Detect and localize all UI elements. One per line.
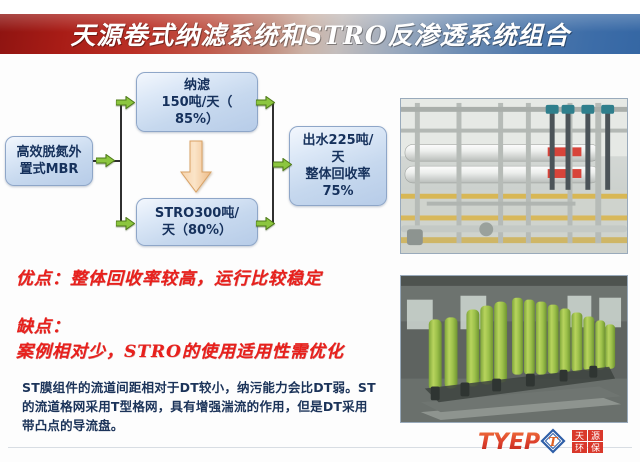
logo-wordmark: TYEP [478, 430, 540, 454]
flow-node-output-label: 出水225吨/天整体回收率75% [294, 132, 382, 200]
photo-ro-membrane-skid [400, 98, 628, 254]
connector-line [120, 102, 122, 224]
flow-node-nanofiltration-label: 纳滤150吨/天（85%） [141, 77, 253, 128]
flow-node-mbr: 高效脱氮外置式MBR [5, 136, 93, 186]
flow-node-mbr-label: 高效脱氮外置式MBR [10, 144, 88, 178]
svg-text:天: 天 [575, 432, 584, 442]
peach-down-arrow-icon [180, 140, 212, 194]
process-flowchart: 高效脱氮外置式MBR 纳滤150吨/天（85%） STRO300吨/天（80%）… [0, 58, 392, 258]
flow-node-stro: STRO300吨/天（80%） [136, 198, 258, 246]
logo-cn-characters: 天 源 环 保 [572, 430, 603, 454]
photo-green-membrane-columns [400, 275, 628, 423]
green-arrow-icon [116, 96, 135, 109]
flow-node-output: 出水225吨/天整体回收率75% [289, 126, 387, 206]
green-arrow-icon [256, 217, 275, 230]
svg-text:T: T [549, 435, 559, 449]
title-banner: 天源卷式纳滤系统和STRO反渗透系统组合 [0, 14, 640, 54]
note-disadvantages-label: 缺点： [16, 312, 70, 337]
green-arrow-icon [116, 217, 135, 230]
page-title: 天源卷式纳滤系统和STRO反渗透系统组合 [0, 14, 640, 54]
green-arrow-icon [256, 96, 275, 109]
svg-text:源: 源 [591, 431, 600, 442]
flow-node-stro-label: STRO300吨/天（80%） [141, 205, 253, 239]
top-white-strip [0, 0, 640, 14]
green-arrow-icon [273, 158, 292, 171]
note-advantages: 优点：整体回收率较高，运行比较稳定 [16, 264, 322, 289]
svg-text:环: 环 [575, 443, 584, 454]
company-logo: TYEP T 天 源 环 保 [478, 428, 628, 454]
slide-root: 天源卷式纳滤系统和STRO反渗透系统组合 高效脱氮外置式MBR 纳滤150吨/天… [0, 0, 640, 462]
svg-text:保: 保 [591, 442, 600, 454]
green-arrow-icon [96, 154, 115, 167]
logo-emblem-icon: T [542, 430, 564, 452]
body-paragraph: ST膜组件的流道间距相对于DT较小，纳污能力会比DT弱。ST的流道格网采用T型格… [22, 378, 380, 435]
flow-node-nanofiltration: 纳滤150吨/天（85%） [136, 72, 258, 132]
note-disadvantages-text: 案例相对少，STRO的使用适用性需优化 [16, 337, 344, 362]
